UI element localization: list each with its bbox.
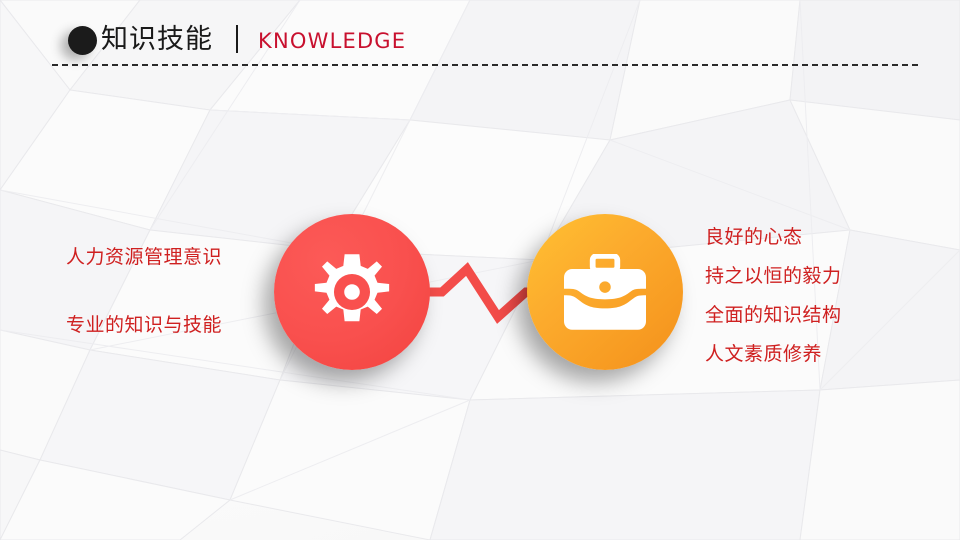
right-item-2: 持之以恒的毅力	[705, 265, 905, 287]
header-divider-rule	[52, 64, 918, 66]
briefcase-node[interactable]	[527, 214, 683, 370]
right-item-1: 良好的心态	[705, 226, 905, 248]
right-item-3: 全面的知识结构	[705, 304, 905, 326]
filled-circle-icon	[68, 26, 97, 55]
right-text-column: 良好的心态 持之以恒的毅力 全面的知识结构 人文素质修养	[705, 226, 905, 365]
right-item-4: 人文素质修养	[705, 343, 905, 365]
slide-canvas: 知识技能 KNOWLEDGE	[0, 0, 960, 540]
briefcase-icon	[564, 254, 646, 330]
title-separator	[236, 25, 238, 53]
left-item-1: 人力资源管理意识	[66, 246, 266, 268]
gear-node[interactable]	[274, 214, 430, 370]
left-item-2: 专业的知识与技能	[66, 314, 266, 336]
page-title-en: KNOWLEDGE	[258, 28, 406, 54]
gear-icon	[311, 251, 393, 333]
left-text-column: 人力资源管理意识 专业的知识与技能	[66, 246, 266, 336]
page-title-cn: 知识技能	[101, 20, 213, 60]
slide-header: 知识技能 KNOWLEDGE	[0, 0, 960, 74]
